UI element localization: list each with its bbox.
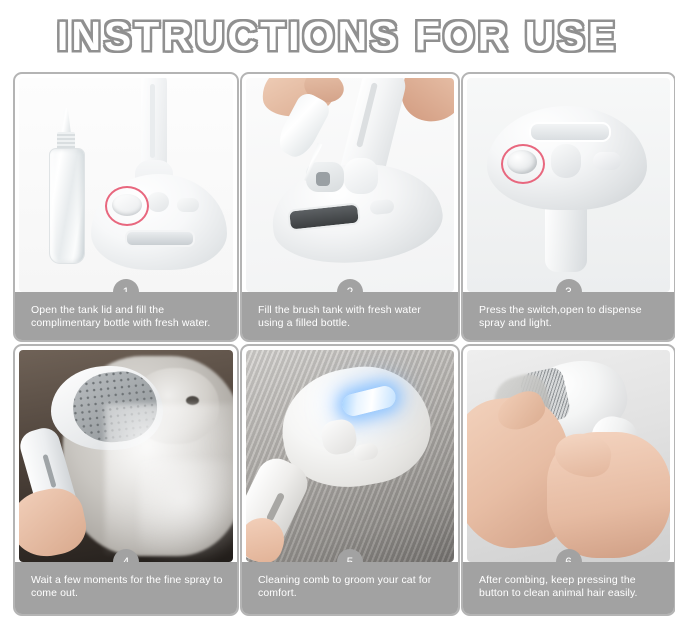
step-5-photo: 5 bbox=[246, 350, 454, 562]
device-vent-icon bbox=[125, 230, 195, 247]
step-4-photo: 4 bbox=[19, 350, 233, 562]
device-knob-icon bbox=[551, 144, 581, 178]
device-button-icon bbox=[177, 198, 199, 212]
step-3-photo: 3 bbox=[467, 78, 670, 292]
step-6-caption: After combing, keep pressing the button … bbox=[463, 562, 674, 614]
step-1-caption: Open the tank lid and fill the complimen… bbox=[15, 292, 237, 340]
water-tank-opening-icon bbox=[316, 172, 330, 186]
step-panel-3: 3 Press the switch,open to dispense spra… bbox=[461, 72, 675, 342]
step-2-photo: 2 bbox=[246, 78, 454, 292]
step-panel-1: 1 Open the tank lid and fill the complim… bbox=[13, 72, 239, 342]
device-knob-icon bbox=[147, 192, 169, 212]
page-title: INSTRUCTIONS FOR USE bbox=[57, 13, 618, 60]
scene-spray-on-cat bbox=[19, 350, 233, 562]
device-handle-slot-icon bbox=[150, 84, 155, 158]
step-panel-4: 4 Wait a few moments for the fine spray … bbox=[13, 344, 239, 616]
tank-cap-icon bbox=[344, 158, 378, 194]
highlight-ring-tank-lid bbox=[105, 186, 149, 226]
step-panel-5: 5 Cleaning comb to groom your cat for co… bbox=[240, 344, 460, 616]
step-2-caption: Fill the brush tank with fresh water usi… bbox=[242, 292, 458, 340]
device-button-icon bbox=[593, 152, 621, 170]
scene-filling-tank bbox=[246, 78, 454, 292]
device-vent-icon bbox=[529, 122, 611, 142]
bottle-tip-icon bbox=[61, 108, 71, 134]
step-6-photo: 6 bbox=[467, 350, 670, 562]
bottle-body-icon bbox=[49, 148, 85, 264]
step-5-caption: Cleaning comb to groom your cat for comf… bbox=[242, 562, 458, 614]
scene-bottle-and-device bbox=[19, 78, 233, 292]
step-3-caption: Press the switch,open to dispense spray … bbox=[463, 292, 674, 340]
step-4-caption: Wait a few moments for the fine spray to… bbox=[15, 562, 237, 614]
step-panel-2: 2 Fill the brush tank with fresh water u… bbox=[240, 72, 460, 342]
highlight-ring-power-switch bbox=[501, 144, 545, 184]
step-panel-6: 6 After combing, keep pressing the butto… bbox=[461, 344, 675, 616]
device-body-icon bbox=[91, 174, 227, 270]
step-1-photo: 1 bbox=[19, 78, 233, 292]
water-mist-icon bbox=[139, 460, 233, 560]
page-header: INSTRUCTIONS FOR USE bbox=[0, 0, 675, 72]
scene-brush-on-fur bbox=[246, 350, 454, 562]
instruction-steps-grid: 1 Open the tank lid and fill the complim… bbox=[0, 72, 675, 616]
scene-device-head-closeup bbox=[467, 78, 670, 292]
scene-cleaning-hair bbox=[467, 350, 670, 562]
dropper-bottle-icon bbox=[49, 112, 83, 264]
